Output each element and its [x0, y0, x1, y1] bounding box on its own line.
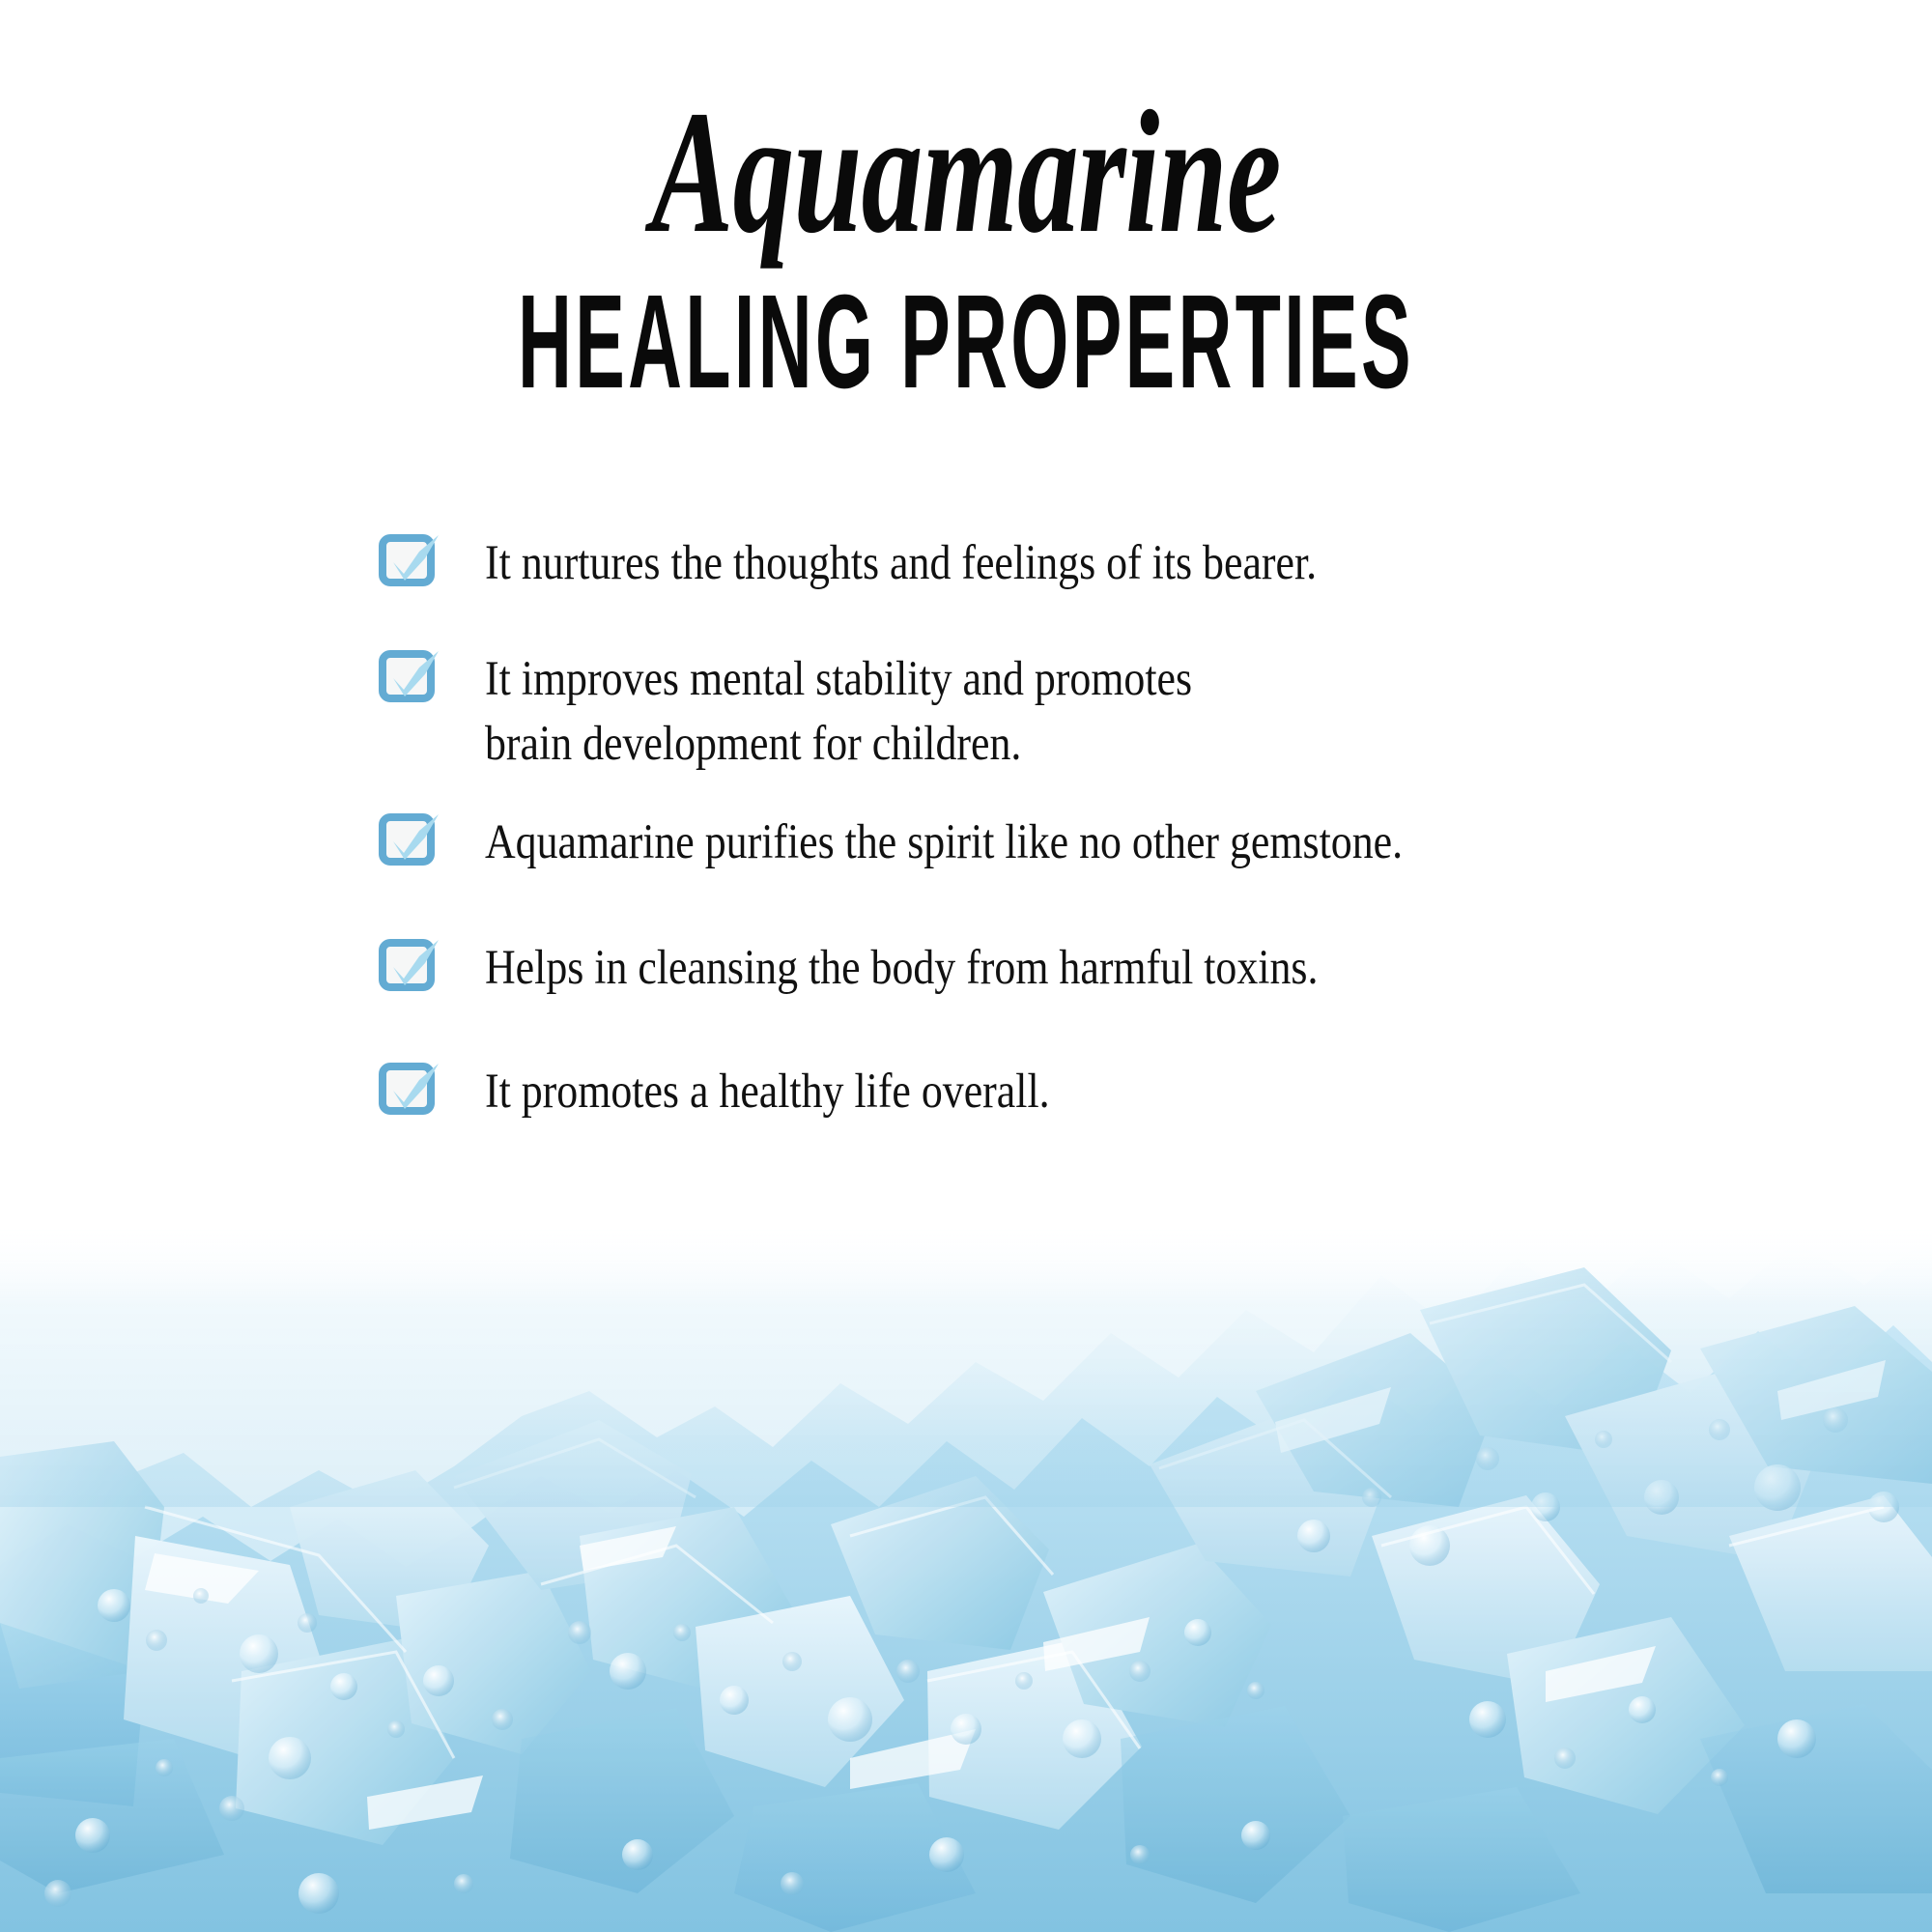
list-item: It nurtures the thoughts and feelings of…: [381, 529, 1810, 595]
checkbox-checked-icon: [381, 1062, 442, 1118]
list-item-label: Aquamarine purifies the spirit like no o…: [485, 809, 1403, 874]
list-item-label: It nurtures the thoughts and feelings of…: [485, 529, 1317, 595]
checkbox-checked-icon: [381, 938, 442, 994]
list-item: It promotes a healthy life overall.: [381, 1058, 1810, 1123]
ice-cubes-photo: [0, 1217, 1932, 1932]
list-item: Helps in cleansing the body from harmful…: [381, 934, 1810, 1000]
list-item-label: It improves mental stability and promote…: [485, 645, 1192, 776]
healing-properties-list: It nurtures the thoughts and feelings of…: [381, 529, 1810, 1124]
list-item: It improves mental stability and promote…: [381, 645, 1810, 776]
checkbox-checked-icon: [381, 812, 442, 868]
poster-canvas: Aquamarine HEALING PROPERTIES It nurture…: [0, 0, 1932, 1932]
poster-header: Aquamarine HEALING PROPERTIES: [0, 0, 1932, 409]
checkbox-checked-icon: [381, 649, 442, 705]
checkbox-checked-icon: [381, 533, 442, 589]
list-item-label: It promotes a healthy life overall.: [485, 1058, 1050, 1123]
list-item: Aquamarine purifies the spirit like no o…: [381, 809, 1810, 874]
page-title: Aquamarine: [290, 89, 1642, 258]
list-item-label: Helps in cleansing the body from harmful…: [485, 934, 1318, 1000]
page-subtitle: HEALING PROPERTIES: [425, 275, 1507, 409]
